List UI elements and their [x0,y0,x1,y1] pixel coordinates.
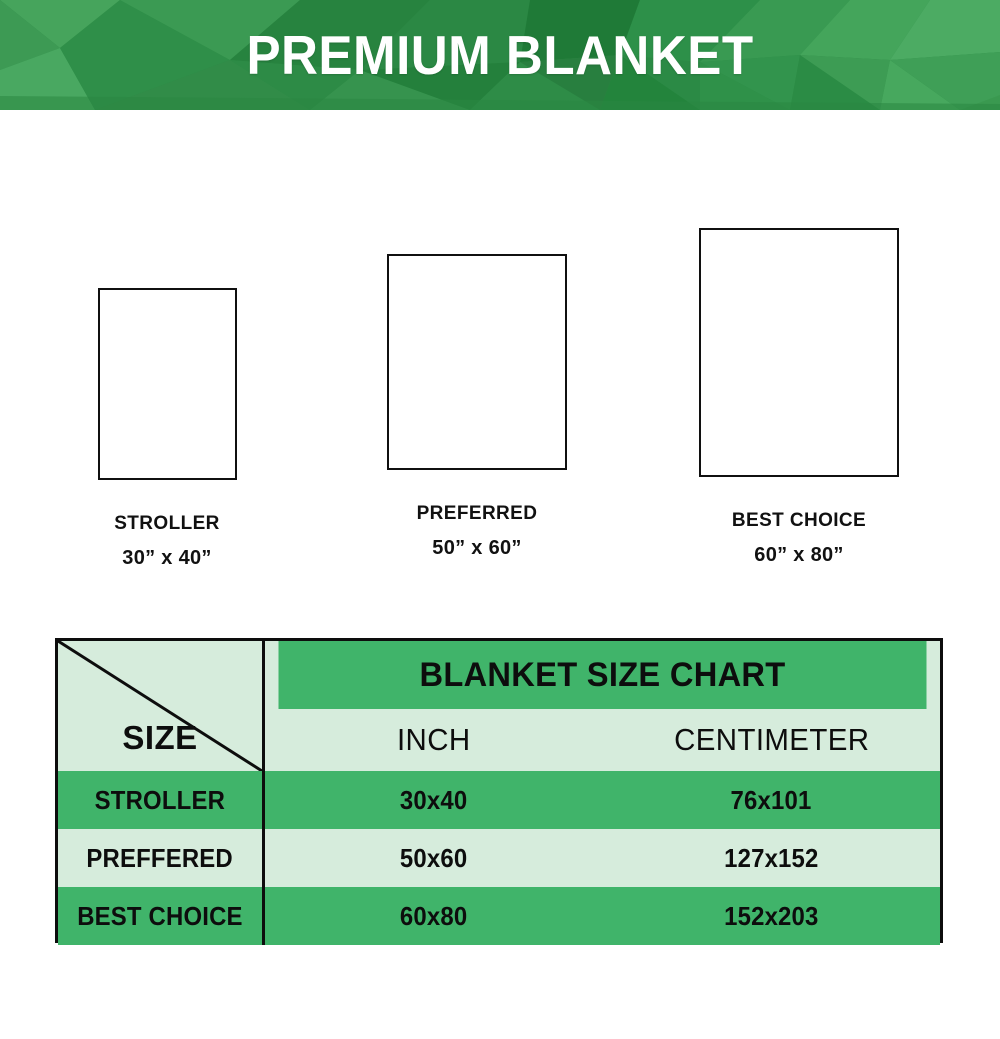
cell-inch-stroller: 30x40 [265,771,603,829]
cell-text: 50x60 [400,843,467,874]
cell-cm-best-choice: 152x203 [603,887,941,945]
page-title: PREMIUM BLANKET [35,0,965,110]
swatch-label-best-choice: BEST CHOICE [689,511,909,530]
row-size-stroller: STROLLER [58,771,265,829]
row-size-best-choice: BEST CHOICE [58,887,265,945]
table-row: BEST CHOICE 60x80 152x203 [58,887,940,945]
plus-pattern [701,230,897,475]
header-banner: PREMIUM BLANKET [0,0,1000,110]
swatch-group-preferred: PREFERRED 50” x 60” [367,190,587,558]
cell-text: 152x203 [724,901,818,932]
blanket-swatch-best-choice [699,228,899,477]
row-size-preffered: PREFFERED [58,829,265,887]
swatch-row: STROLLER 30” x 40” [0,190,1000,580]
swatch-label-stroller: STROLLER [57,514,277,533]
swatch-size-preferred: 50” x 60” [367,538,587,558]
table-row: STROLLER 30x40 76x101 [58,771,940,829]
unit-header-row: INCH CENTIMETER [265,709,940,771]
blanket-swatch-stroller [98,288,237,480]
cell-inch-preffered: 50x60 [265,829,603,887]
cell-cm-preffered: 127x152 [603,829,941,887]
swatch-group-stroller: STROLLER 30” x 40” [57,190,277,568]
size-header-label: SIZE [58,719,262,757]
table-header-block: SIZE BLANKET SIZE CHART INCH CENTIMETER [58,641,940,771]
column-header-inch: INCH [273,709,594,771]
swatch-label-preferred: PREFERRED [367,504,587,523]
row-values: 60x80 152x203 [265,887,940,945]
plus-pattern [389,256,565,468]
cell-text: 127x152 [724,843,818,874]
table-title: BLANKET SIZE CHART [279,641,927,709]
row-values: 30x40 76x101 [265,771,940,829]
blanket-size-chart-table: SIZE BLANKET SIZE CHART INCH CENTIMETER … [55,638,943,943]
cell-text: STROLLER [95,785,225,816]
cell-text: 60x80 [400,901,467,932]
cell-text: 76x101 [731,785,812,816]
cell-inch-best-choice: 60x80 [265,887,603,945]
blanket-swatch-preferred [387,254,567,470]
cell-text: PREFFERED [87,843,234,874]
cell-text: BEST CHOICE [77,901,242,932]
cell-cm-stroller: 76x101 [603,771,941,829]
swatch-size-best-choice: 60” x 80” [689,545,909,565]
plus-pattern [100,290,235,478]
row-values: 50x60 127x152 [265,829,940,887]
table-row: PREFFERED 50x60 127x152 [58,829,940,887]
size-corner-cell: SIZE [58,641,265,771]
swatch-group-best-choice: BEST CHOICE 60” x 80” [689,190,909,565]
cell-text: 30x40 [400,785,467,816]
column-header-centimeter: CENTIMETER [611,709,932,771]
swatch-size-stroller: 30” x 40” [57,548,277,568]
